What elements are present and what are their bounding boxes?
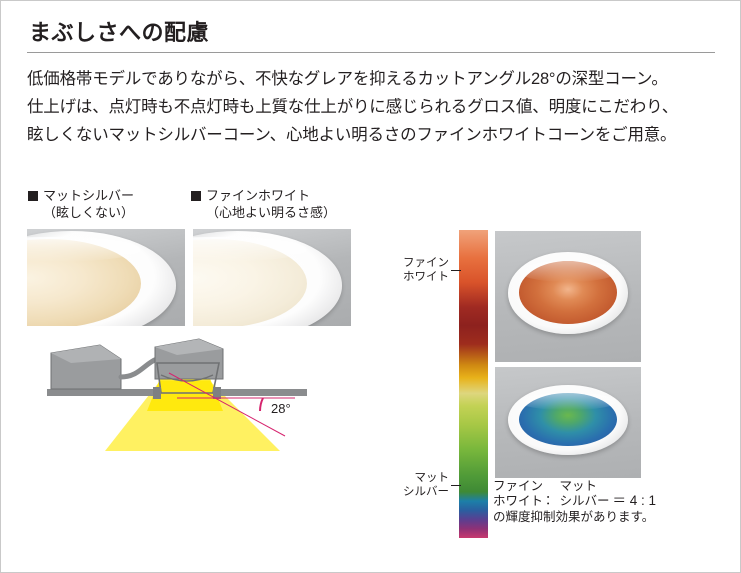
angle-arc-marker bbox=[260, 398, 263, 411]
ratio-term-matte-silver: マット シルバー bbox=[560, 479, 610, 509]
scale-leader-line-top bbox=[451, 270, 461, 271]
scale-label-matte-silver-line2: シルバー bbox=[403, 486, 449, 498]
sample-caption-fine-white: ファインホワイト （心地よい明るさ感） bbox=[191, 187, 336, 221]
ratio-expression: ファイン ホワイト ： マット シルバー ＝ 4 : 1 bbox=[493, 479, 656, 509]
ratio-matte-silver-line2: シルバー bbox=[560, 494, 610, 509]
sample-sub-fine-white: （心地よい明るさ感） bbox=[206, 204, 336, 221]
ratio-term-fine-white: ファイン ホワイト bbox=[493, 479, 543, 509]
photo-matte-silver-cone bbox=[27, 229, 185, 326]
scale-leader-line-bottom bbox=[451, 485, 461, 486]
ratio-matte-silver-line1: マット bbox=[560, 479, 610, 494]
sample-name-fine-white: ファインホワイト bbox=[206, 188, 310, 203]
ceiling-slab-left bbox=[47, 389, 155, 396]
product-feature-page: まぶしさへの配慮 低価格帯モデルでありながら、不快なグレアを抑えるカットアングル… bbox=[0, 0, 741, 573]
luminance-photo-highlight bbox=[519, 393, 617, 411]
sample-name-matte-silver: マットシルバー bbox=[43, 188, 134, 203]
sample-sub-matte-silver: （眩しくない） bbox=[43, 204, 134, 221]
intro-line-2: 仕上げは、点灯時も不点灯時も上質な仕上がりに感じられるグロス値、明度にこだわり、 bbox=[27, 93, 719, 121]
square-bullet-icon bbox=[191, 191, 201, 201]
intro-line-3: 眩しくないマットシルバーコーン、心地よい明るさのファインホワイトコーンをご用意。 bbox=[27, 121, 719, 149]
connection-cable bbox=[121, 359, 157, 377]
scale-label-matte-silver-line1: マット bbox=[415, 472, 450, 484]
cut-angle-cross-section-diagram: 28° bbox=[27, 333, 357, 453]
scale-label-fine-white-line1: ファイン bbox=[403, 257, 449, 269]
ratio-value: ＝ 4 : 1 bbox=[613, 493, 657, 509]
ceiling-slab-right bbox=[215, 389, 307, 396]
title-divider bbox=[27, 52, 715, 53]
square-bullet-icon bbox=[28, 191, 38, 201]
scale-label-matte-silver: マット シルバー bbox=[397, 471, 449, 499]
luminance-color-scale-bar bbox=[459, 230, 488, 538]
intro-paragraph: 低価格帯モデルでありながら、不快なグレアを抑えるカットアングル28°の深型コーン… bbox=[27, 65, 719, 149]
ratio-fine-white-line2: ホワイト bbox=[493, 494, 543, 509]
sample-caption-matte-silver: マットシルバー （眩しくない） bbox=[28, 187, 134, 221]
ratio-note: の輝度抑制効果があります。 bbox=[493, 510, 656, 525]
scale-label-fine-white: ファイン ホワイト bbox=[397, 256, 449, 284]
angle-label: 28° bbox=[271, 401, 291, 416]
page-title: まぶしさへの配慮 bbox=[29, 15, 209, 47]
trim-flange-left bbox=[153, 387, 161, 399]
photo-fine-white-cone bbox=[193, 229, 351, 326]
ratio-fine-white-line1: ファイン bbox=[493, 479, 543, 494]
luminance-ratio-caption: ファイン ホワイト ： マット シルバー ＝ 4 : 1 の輝度抑制効果がありま… bbox=[493, 479, 656, 525]
luminance-photo-highlight bbox=[519, 261, 617, 282]
luminance-photo-fine-white bbox=[495, 231, 641, 362]
scale-label-fine-white-line2: ホワイト bbox=[403, 271, 449, 283]
ratio-colon: ： bbox=[545, 493, 558, 509]
luminance-photo-matte-silver bbox=[495, 367, 641, 478]
intro-line-1: 低価格帯モデルでありながら、不快なグレアを抑えるカットアングル28°の深型コーン… bbox=[27, 65, 719, 93]
